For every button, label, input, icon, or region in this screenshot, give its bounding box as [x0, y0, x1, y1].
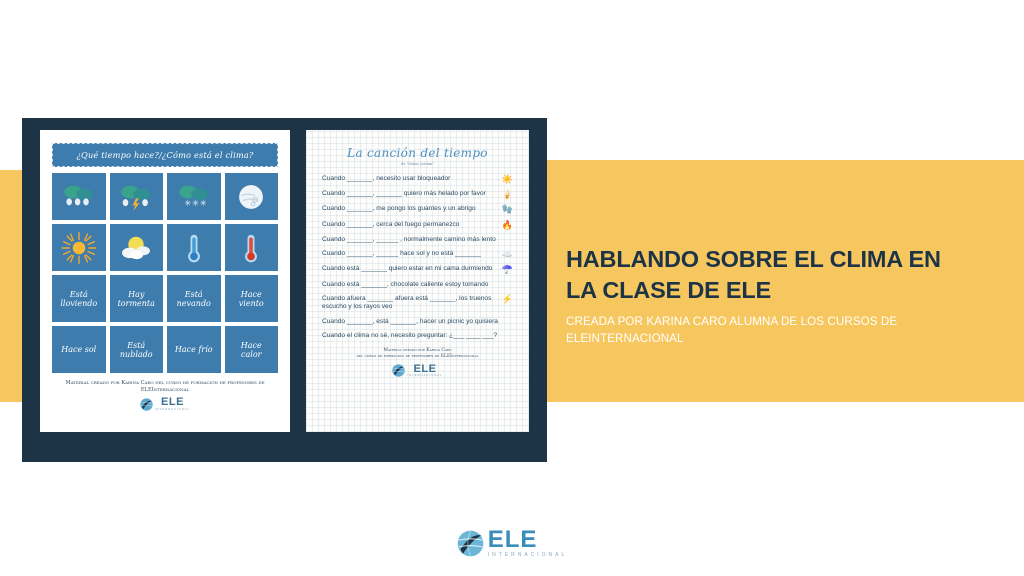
song-line: Cuando _______, cerca del fuego permanez…	[322, 221, 513, 230]
lightning-emoji: ⚡	[502, 295, 513, 304]
credit-line-1: Material creado por Karina Caro del curs…	[50, 380, 280, 387]
weather-label: Estánublado	[118, 339, 155, 361]
song-line: Cuando _______, _______ quiero más helad…	[322, 190, 513, 199]
worksheet-pair: ¿Qué tiempo hace?/¿Cómo está el clima? ✳…	[40, 130, 529, 432]
weather-vocabulary-worksheet: ¿Qué tiempo hace?/¿Cómo está el clima? ✳…	[40, 130, 290, 432]
thunderstorm-icon	[115, 180, 157, 214]
windy-moon-icon	[230, 180, 272, 214]
worksheet-footer: Material creado por Karina Caro del curs…	[50, 380, 280, 411]
song-line-text: Cuando afuera _______ afuera está ______…	[322, 295, 499, 311]
weather-cell-cold-thermometer	[167, 224, 221, 271]
song-lines: Cuando _______, necesito usar bloqueador…	[316, 175, 519, 340]
weather-label-cell: Estálloviendo	[52, 275, 106, 322]
weather-label-cell: Hace sol	[52, 326, 106, 373]
headline-line-1: HABLANDO SOBRE EL CLIMA EN	[566, 244, 986, 275]
svg-text:✳: ✳	[199, 198, 206, 208]
ele-logo-small: ELE INTERNACIONAL	[50, 397, 280, 411]
song-line-text: Cuando _______, ______ , normalmente cam…	[322, 236, 513, 244]
worksheet-frame: ¿Qué tiempo hace?/¿Cómo está el clima? ✳…	[22, 118, 547, 462]
credit-line-2: ELEInternacional	[50, 387, 280, 394]
snow-cloud-icon: ✳✳✳	[173, 180, 215, 214]
song-title: La canción del tiempo	[316, 146, 519, 160]
song-footer: Material creado por Karina Caro del curs…	[316, 348, 519, 377]
weather-cell-snow-cloud: ✳✳✳	[167, 173, 221, 220]
gloves-emoji: 🧤	[502, 205, 513, 214]
globe-icon	[457, 530, 484, 557]
song-line-text: Cuando el clima no sé, necesito pregunta…	[322, 332, 513, 340]
song-line: Cuando el clima no sé, necesito pregunta…	[322, 332, 513, 340]
page-title: HABLANDO SOBRE EL CLIMA EN LA CLASE DE E…	[566, 244, 986, 306]
weather-grid: ✳✳✳EstálloviendoHaytormentaEstánevandoHa…	[50, 173, 280, 373]
weather-cell-rain-cloud	[52, 173, 106, 220]
brand-wordmark: ELE	[488, 528, 568, 552]
song-line-text: Cuando _______, cerca del fuego permanez…	[322, 221, 499, 229]
song-line: Cuando _______, ______ , normalmente cam…	[322, 236, 513, 244]
song-line: Cuando _______, necesito usar bloqueador…	[322, 175, 513, 184]
subheadline-line-1: CREADA POR KARINA CARO ALUMNA DE LOS CUR…	[566, 313, 966, 330]
weather-label: Hace frío	[173, 343, 215, 356]
weather-cell-sun	[52, 224, 106, 271]
worksheet-banner: ¿Qué tiempo hace?/¿Cómo está el clima?	[52, 143, 278, 167]
subheadline-line-2: ELEINTERNACIONAL	[566, 330, 966, 347]
weather-label-cell: Haytormenta	[110, 275, 164, 322]
slide-canvas: ¿Qué tiempo hace?/¿Cómo está el clima? ✳…	[0, 0, 1024, 576]
logo-subtext: INTERNACIONAL	[155, 409, 190, 412]
cold-thermometer-icon	[173, 231, 215, 265]
weather-label-cell: Estánevando	[167, 275, 221, 322]
logo-subtext: INTERNACIONAL	[407, 375, 442, 378]
sun-icon	[58, 231, 100, 265]
sun-emoji: ☀️	[502, 175, 513, 184]
song-line: Cuando _______, ______ hace sol y no est…	[322, 250, 513, 259]
brand-subtext: INTERNACIONAL	[488, 553, 568, 558]
song-line-text: Cuando _______, ______ hace sol y no est…	[322, 250, 499, 258]
song-credit-line-2: del curso de formación de profesores de …	[316, 354, 519, 360]
song-line: Cuando está _______ quiero estar en mi c…	[322, 265, 513, 274]
song-line-text: Cuando _______, _______ quiero más helad…	[322, 190, 499, 198]
logo-wordmark: ELE	[407, 364, 442, 375]
song-line-text: Cuando _______, me pongo los guantes y u…	[322, 205, 499, 213]
globe-icon	[140, 398, 153, 411]
song-line: Cuando _______, me pongo los guantes y u…	[322, 205, 513, 214]
logo-wordmark: ELE	[155, 397, 190, 408]
headline-line-2: LA CLASE DE ELE	[566, 275, 986, 306]
weather-label: Haceviento	[237, 288, 266, 310]
fire-emoji: 🔥	[502, 221, 513, 230]
weather-cell-thunderstorm	[110, 173, 164, 220]
song-line-text: Cuando está _______, chocolate caliente …	[322, 281, 513, 289]
weather-label: Hacecalor	[239, 339, 264, 361]
weather-cell-sun-behind-cloud	[110, 224, 164, 271]
brand-logo: ELE INTERNACIONAL	[0, 528, 1024, 558]
weather-cell-hot-thermometer	[225, 224, 279, 271]
weather-cell-windy-moon	[225, 173, 279, 220]
weather-label-cell: Hace frío	[167, 326, 221, 373]
weather-label-cell: Hacecalor	[225, 326, 279, 373]
song-line-text: Cuando _______, necesito usar bloqueador	[322, 175, 499, 183]
svg-text:✳: ✳	[192, 198, 199, 208]
cloud-emoji: ☁️	[502, 250, 513, 259]
song-line: Cuando está _______, chocolate caliente …	[322, 281, 513, 289]
globe-icon	[392, 364, 405, 377]
ele-logo-small-2: ELE INTERNACIONAL	[316, 364, 519, 378]
weather-song-worksheet: La canción del tiempo de "Señor Jordan" …	[306, 130, 529, 432]
song-line: Cuando afuera _______ afuera está ______…	[322, 295, 513, 311]
rain-cloud-icon	[58, 180, 100, 214]
song-line-text: Cuando _______, está _______, hacer un p…	[322, 318, 513, 326]
weather-label-cell: Haceviento	[225, 275, 279, 322]
weather-label: Estálloviendo	[58, 288, 99, 310]
song-line-text: Cuando está _______ quiero estar en mi c…	[322, 265, 499, 273]
ice-cream-emoji: 🍦	[502, 190, 513, 199]
sun-behind-cloud-icon	[115, 231, 157, 265]
weather-label-cell: Estánublado	[110, 326, 164, 373]
weather-label: Estánevando	[175, 288, 213, 310]
weather-label: Hace sol	[59, 343, 98, 356]
umbrella-emoji: ☂️	[502, 265, 513, 274]
song-line: Cuando _______, está _______, hacer un p…	[322, 318, 513, 326]
svg-text:✳: ✳	[184, 198, 191, 208]
page-subtitle: CREADA POR KARINA CARO ALUMNA DE LOS CUR…	[566, 313, 966, 348]
hot-thermometer-icon	[230, 231, 272, 265]
weather-label: Haytormenta	[116, 288, 157, 310]
song-subtitle: de "Señor Jordan"	[316, 162, 519, 166]
